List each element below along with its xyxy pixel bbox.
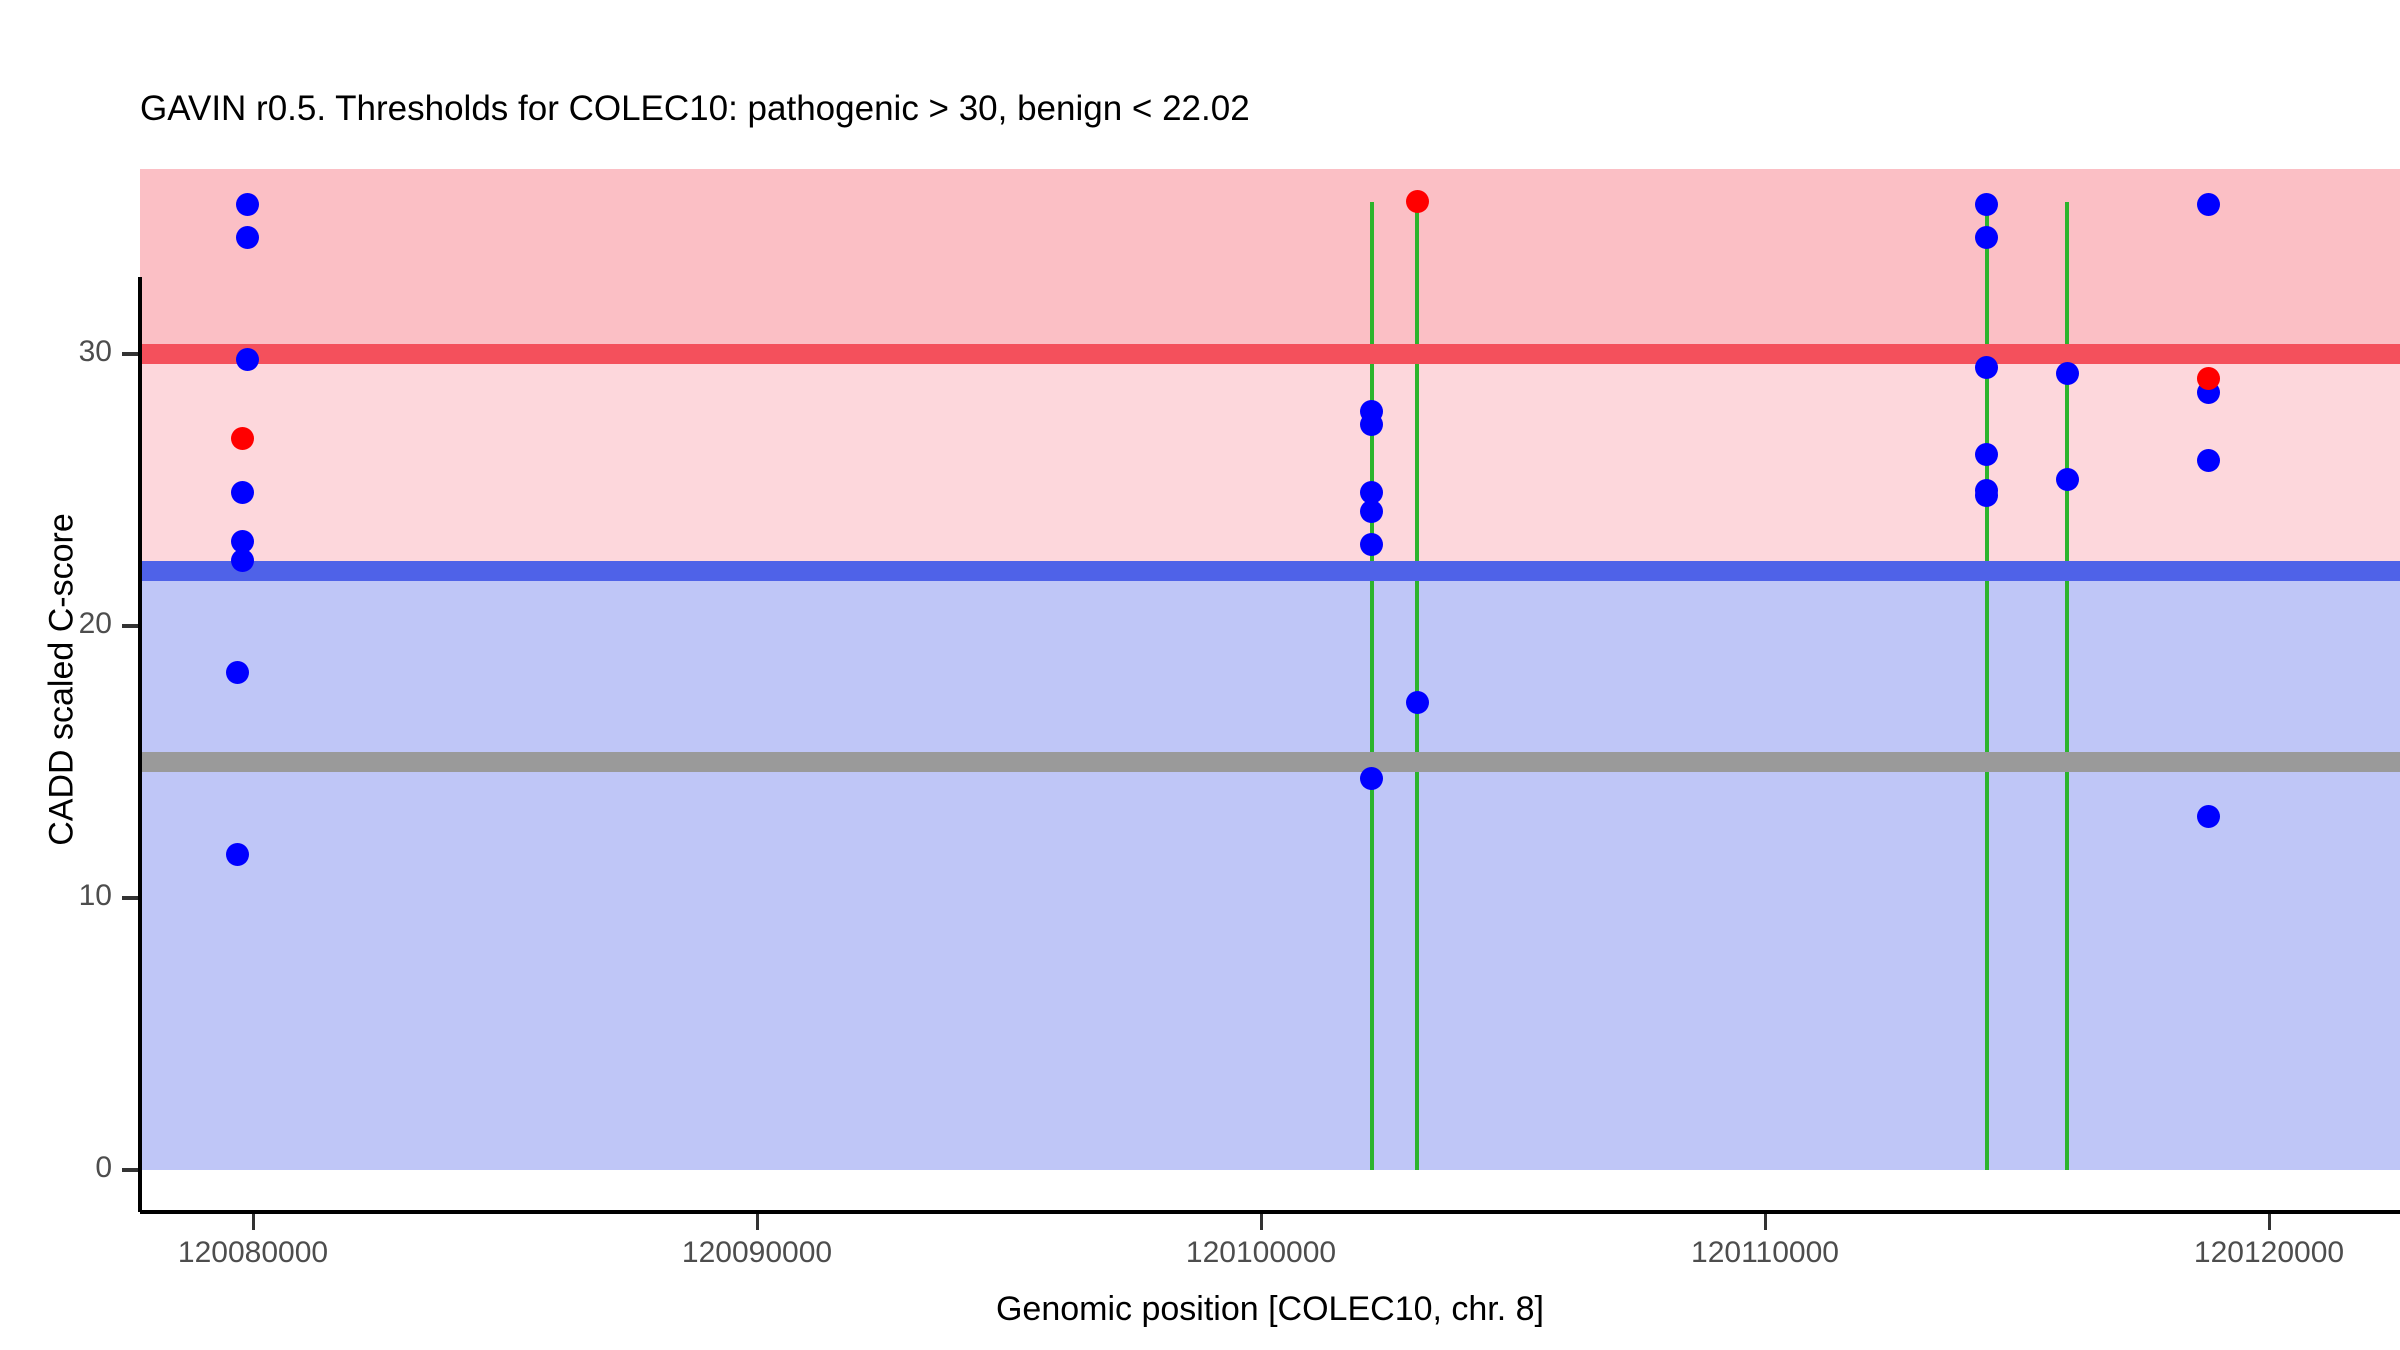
data-point: [236, 226, 259, 249]
data-point: [2197, 193, 2220, 216]
x-tick-mark: [252, 1214, 255, 1230]
data-point: [2056, 468, 2079, 491]
data-point: [1975, 193, 1998, 216]
data-point: [2197, 805, 2220, 828]
x-axis-line: [140, 1210, 2400, 1214]
data-point: [1406, 691, 1429, 714]
title-line-1: GAVIN r0.5. Thresholds for COLEC10: path…: [140, 88, 2380, 129]
y-axis-line: [138, 277, 142, 1212]
x-tick-label: 120110000: [1691, 1236, 1839, 1270]
data-point: [2056, 362, 2079, 385]
vous-band: [140, 354, 2400, 571]
data-point: [226, 661, 249, 684]
pathogenic-band: [140, 169, 2400, 354]
data-point: [2197, 449, 2220, 472]
x-tick-label: 120120000: [2194, 1236, 2344, 1270]
x-tick-mark: [1764, 1214, 1767, 1230]
data-point: [2197, 367, 2220, 390]
y-tick-label: 0: [0, 1151, 130, 1185]
x-tick-label: 120080000: [178, 1236, 328, 1270]
benign-band: [140, 571, 2400, 1170]
x-axis-title: Genomic position [COLEC10, chr. 8]: [140, 1290, 2400, 1329]
fallback-threshold-line: [140, 752, 2400, 772]
x-tick-mark: [2268, 1214, 2271, 1230]
plot-panel: [140, 277, 2400, 1212]
x-tick-label: 120090000: [682, 1236, 832, 1270]
data-point: [1975, 226, 1998, 249]
pathogenic-threshold-line: [140, 344, 2400, 364]
x-tick-mark: [756, 1214, 759, 1230]
y-axis-title: CADD scaled C-score: [43, 300, 82, 1060]
x-tick-label: 120100000: [1186, 1236, 1336, 1270]
benign-threshold-line: [140, 561, 2400, 581]
chart-page: GAVIN r0.5. Thresholds for COLEC10: path…: [0, 0, 2400, 1350]
data-point: [1406, 190, 1429, 213]
x-tick-mark: [1260, 1214, 1263, 1230]
